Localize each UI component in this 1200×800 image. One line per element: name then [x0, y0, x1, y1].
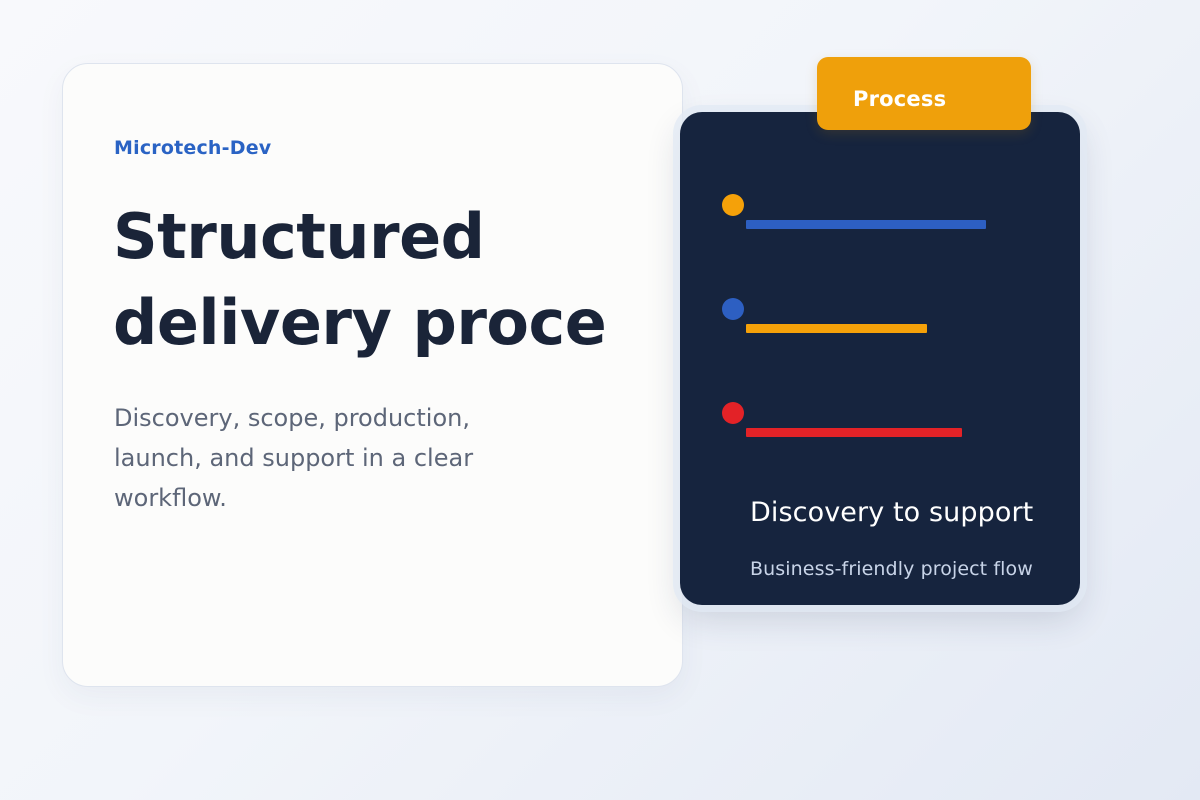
process-panel: Discovery to support Business-friendly p…	[680, 112, 1080, 605]
step-dot-blue-icon	[722, 298, 744, 320]
step-bar-blue	[746, 220, 986, 229]
step-dot-orange-icon	[722, 194, 744, 216]
process-badge-label: Process	[853, 87, 946, 111]
step-bar-orange	[746, 324, 927, 333]
page-root: Microtech-Dev Structured delivery proce …	[0, 0, 1200, 800]
panel-subtitle: Business-friendly project flow	[750, 558, 1033, 580]
page-subcopy: Discovery, scope, production, launch, an…	[114, 398, 564, 518]
process-step-row	[722, 402, 1042, 506]
panel-title: Discovery to support	[750, 497, 1033, 528]
process-step-row	[722, 194, 1042, 298]
step-dot-red-icon	[722, 402, 744, 424]
process-badge: Process	[817, 57, 1031, 130]
info-card: Microtech-Dev Structured delivery proce …	[62, 63, 683, 687]
process-steps-list	[722, 194, 1042, 506]
page-title: Structured delivery proce	[113, 194, 653, 365]
process-step-row	[722, 298, 1042, 402]
step-bar-red	[746, 428, 962, 437]
brand-eyebrow: Microtech-Dev	[114, 137, 271, 159]
